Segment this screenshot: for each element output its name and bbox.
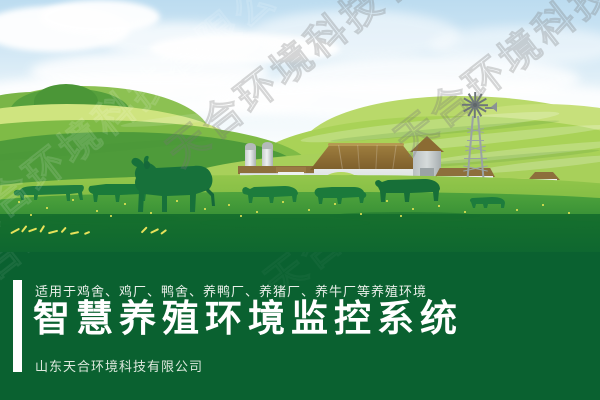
- windmill-crossbar: [464, 158, 487, 159]
- farm-illustration: 天合环境科技有限公司 天合环境科技有限公司 天合环境科技有限公司: [0, 0, 600, 252]
- cow: [370, 175, 444, 213]
- cloud: [250, 10, 460, 60]
- windmill-crossbar: [467, 140, 484, 141]
- barn-gable-roof: [410, 136, 444, 152]
- grass-tufts: [8, 226, 188, 238]
- field-dapple: [430, 220, 600, 229]
- windmill-fan: [462, 92, 488, 118]
- barn-roof: [310, 144, 422, 170]
- silo-cap: [245, 143, 256, 150]
- cow: [12, 178, 88, 212]
- barn-roof-ridge: [328, 143, 404, 146]
- cow-large: [126, 154, 224, 216]
- company-name: 山东天合环境科技有限公司: [35, 356, 203, 375]
- field-dapple: [200, 218, 370, 228]
- cow: [310, 182, 368, 212]
- poster-root: 天合环境科技有限公司 天合环境科技有限公司 天合环境科技有限公司 天合环境科技有…: [0, 0, 600, 400]
- cow: [468, 194, 508, 214]
- title-panel: 天合环境科技有限公司 天合环境科技有限公司 适用于鸡舍、鸡厂、鸭舍、养鸭厂、养猪…: [0, 252, 600, 400]
- page-title: 智慧养殖环境监控系统: [33, 300, 463, 339]
- windmill-hub: [473, 103, 477, 107]
- cow: [240, 180, 302, 212]
- accent-bar: [13, 280, 22, 372]
- silo-cap: [262, 142, 273, 149]
